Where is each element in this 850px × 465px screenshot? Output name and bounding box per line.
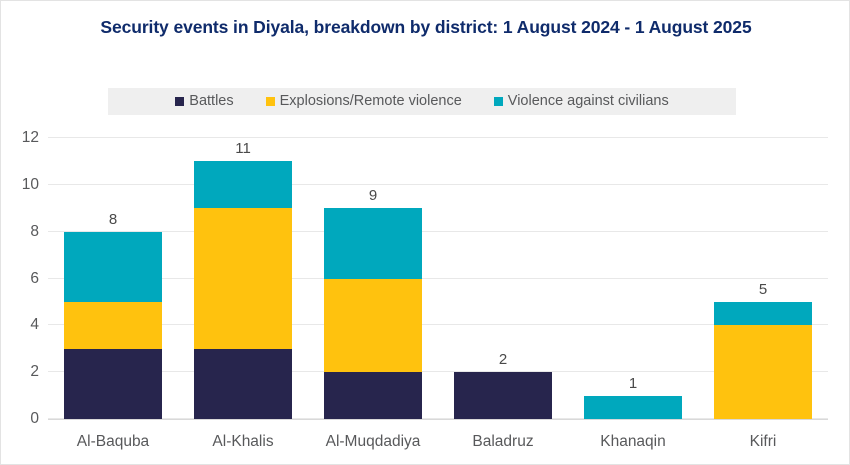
x-axis-tick-label: Baladruz [438, 433, 568, 451]
bar-segment[interactable] [194, 349, 292, 419]
axis-baseline [48, 419, 828, 420]
x-axis-tick-label: Khanaqin [568, 433, 698, 451]
y-axis-tick-label: 4 [30, 316, 39, 334]
bar-segment[interactable] [714, 302, 812, 325]
legend-item-explosions-remote-violence[interactable]: Explosions/Remote violence [266, 94, 462, 109]
x-axis-tick-label: Al-Muqdadiya [308, 433, 438, 451]
bar-segment[interactable] [324, 279, 422, 373]
chart-title: Security events in Diyala, breakdown by … [61, 15, 791, 40]
y-axis-tick-label: 0 [30, 410, 39, 428]
legend-swatch-violence-against-civilians [494, 97, 503, 106]
y-axis-tick-label: 8 [30, 223, 39, 241]
bar-segment[interactable] [64, 349, 162, 419]
bar-segment[interactable] [64, 232, 162, 302]
bar-total-label: 9 [369, 187, 377, 204]
bar-total-label: 2 [499, 351, 507, 368]
gridline [48, 324, 828, 325]
legend-swatch-battles [175, 97, 184, 106]
bar-segment[interactable] [714, 325, 812, 419]
legend-swatch-explosions-remote-violence [266, 97, 275, 106]
bar-total-label: 1 [629, 375, 637, 392]
legend-item-battles[interactable]: Battles [175, 94, 233, 109]
gridline [48, 278, 828, 279]
bar-segment[interactable] [194, 161, 292, 208]
legend-label-battles: Battles [189, 94, 233, 109]
bar-segment[interactable] [64, 302, 162, 349]
gridline [48, 137, 828, 138]
bar-segment[interactable] [324, 208, 422, 278]
legend-item-violence-against-civilians[interactable]: Violence against civilians [494, 94, 669, 109]
chart-legend: Battles Explosions/Remote violence Viole… [108, 88, 736, 115]
bar-stack[interactable]: 1 [584, 396, 682, 419]
x-axis-tick-label: Al-Baquba [48, 433, 178, 451]
bar-segment[interactable] [324, 372, 422, 419]
bar-total-label: 5 [759, 281, 767, 298]
chart-canvas: Security events in Diyala, breakdown by … [0, 0, 850, 465]
x-axis-tick-label: Kifri [698, 433, 828, 451]
y-axis-tick-label: 12 [22, 129, 39, 147]
plot-area: 024681012 8119215 Al-BaqubaAl-KhalisAl-M… [48, 138, 828, 419]
x-axis-tick-label: Al-Khalis [178, 433, 308, 451]
legend-label-explosions-remote-violence: Explosions/Remote violence [280, 94, 462, 109]
gridline [48, 184, 828, 185]
bar-segment[interactable] [194, 208, 292, 349]
y-axis-tick-label: 6 [30, 270, 39, 288]
bar-stack[interactable]: 2 [454, 372, 552, 419]
bar-stack[interactable]: 8 [64, 232, 162, 419]
y-axis-tick-label: 10 [22, 176, 39, 194]
bar-segment[interactable] [584, 396, 682, 419]
legend-label-violence-against-civilians: Violence against civilians [508, 94, 669, 109]
bar-stack[interactable]: 5 [714, 302, 812, 419]
bar-stack[interactable]: 9 [324, 208, 422, 419]
bar-total-label: 8 [109, 211, 117, 228]
bar-segment[interactable] [454, 372, 552, 419]
gridline [48, 231, 828, 232]
bar-total-label: 11 [235, 140, 251, 157]
bar-stack[interactable]: 11 [194, 161, 292, 419]
y-axis-tick-label: 2 [30, 363, 39, 381]
gridline [48, 371, 828, 372]
